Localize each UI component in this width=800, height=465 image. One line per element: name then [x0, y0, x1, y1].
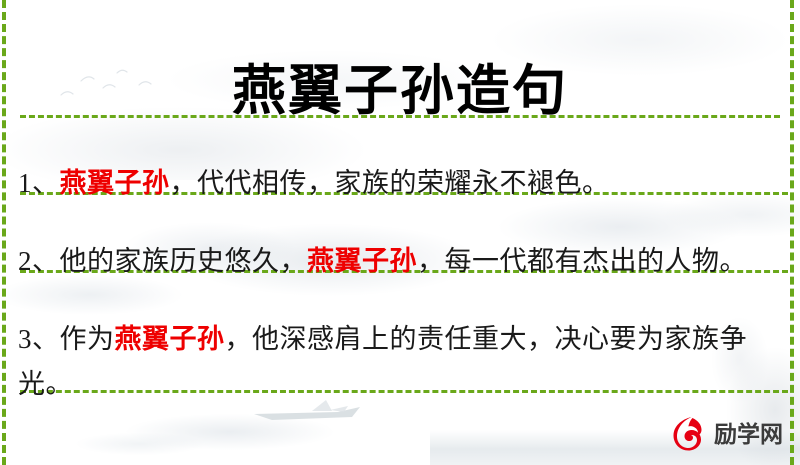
sentence-item-2: 2、他的家族历史悠久，燕翼子孙，每一代都有杰出的人物。 — [18, 239, 770, 284]
sentence-item-3: 3、作为燕翼子孙，他深感肩上的责任重大，决心要为家族争光。 — [18, 317, 770, 407]
sentence-2-text-before: 他的家族历史悠久， — [60, 246, 308, 276]
sentence-3-index: 3、 — [18, 324, 60, 354]
background-water-wash — [70, 398, 400, 464]
sentence-2-index: 2、 — [18, 246, 60, 276]
sentence-1-text: ，代代相传，家族的荣耀永不褪色。 — [170, 168, 610, 198]
sentence-item-1: 1、燕翼子孙，代代相传，家族的荣耀永不褪色。 — [18, 161, 770, 206]
page-title: 燕翼子孙造句 — [0, 56, 800, 126]
page-root: 燕翼子孙造句 1、燕翼子孙，代代相传，家族的荣耀永不褪色。 2、他的家族历史悠久… — [0, 0, 800, 465]
logo-text: 励学网 — [714, 423, 783, 446]
sentence-3-text-before: 作为 — [60, 324, 115, 354]
sentence-1-keyword: 燕翼子孙 — [60, 168, 170, 198]
flame-swirl-icon — [668, 414, 708, 454]
sentence-3-keyword: 燕翼子孙 — [115, 324, 225, 354]
sentence-2-keyword: 燕翼子孙 — [307, 246, 417, 276]
sentence-2-text-after: ，每一代都有杰出的人物。 — [417, 246, 747, 276]
site-logo[interactable]: 励学网 — [668, 412, 793, 456]
sentence-1-index: 1、 — [18, 168, 60, 198]
